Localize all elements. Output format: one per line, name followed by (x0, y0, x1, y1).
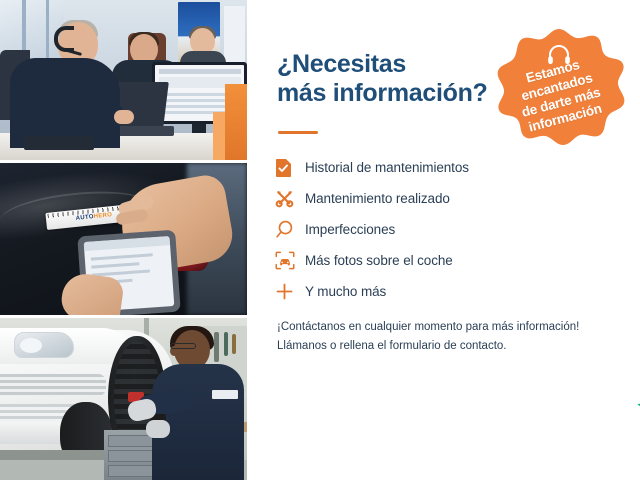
call-center-agents-photo (0, 0, 247, 160)
car-grille (0, 374, 106, 396)
promo-banner: AUTOHERO (0, 0, 640, 480)
car-inspection-ruler-photo: AUTOHERO (0, 163, 247, 315)
support-badge: Estamos encantados de darte más informac… (489, 25, 629, 165)
agent-foreground (10, 22, 120, 140)
ruler-logo-auto: AUTO (75, 214, 94, 222)
car-headlight (14, 332, 74, 358)
list-item-label: Imperfecciones (305, 222, 395, 237)
feature-list: Historial de mantenimientos M (275, 152, 575, 307)
mechanic-person (152, 326, 247, 480)
plus-icon (275, 280, 305, 304)
tools-cross-icon (275, 187, 305, 211)
headline-line-2: más información? (277, 79, 507, 108)
list-item: Más fotos sobre el coche (275, 245, 575, 276)
list-item-label: Más fotos sobre el coche (305, 253, 453, 268)
safety-glasses-icon (170, 343, 196, 349)
orange-divider-panel (225, 84, 247, 160)
list-item-label: Y mucho más (305, 284, 386, 299)
car-scan-icon (275, 249, 305, 273)
trustpilot-star-icon (636, 396, 640, 417)
wall-poster-secondary (224, 6, 245, 64)
contact-text: ¡Contáctanos en cualquier momento para m… (277, 318, 617, 356)
photo-column: AUTOHERO (0, 0, 247, 480)
magnifier-icon (275, 218, 305, 242)
keyboard (24, 136, 94, 150)
trustpilot-widget[interactable]: Trustpilot Excelente (636, 375, 640, 441)
ruler-logo-hero: HERO (93, 212, 112, 220)
page-title: ¿Necesitas más información? (277, 50, 507, 108)
list-item: Y mucho más (275, 276, 575, 307)
document-check-icon (275, 156, 305, 180)
title-divider (278, 131, 318, 134)
trustpilot-logo[interactable]: Trustpilot (636, 395, 640, 417)
list-item: Mantenimiento realizado (275, 183, 575, 214)
contact-line-2: Llámanos o rellena el formulario de cont… (277, 340, 507, 352)
list-item-label: Mantenimiento realizado (305, 191, 450, 206)
workshop-mechanic-wheel-photo (0, 318, 247, 480)
list-item-label: Historial de mantenimientos (305, 160, 469, 175)
list-item: Imperfecciones (275, 214, 575, 245)
headline-line-1: ¿Necesitas (277, 50, 406, 78)
contact-line-1: ¡Contáctanos en cualquier momento para m… (277, 321, 579, 333)
